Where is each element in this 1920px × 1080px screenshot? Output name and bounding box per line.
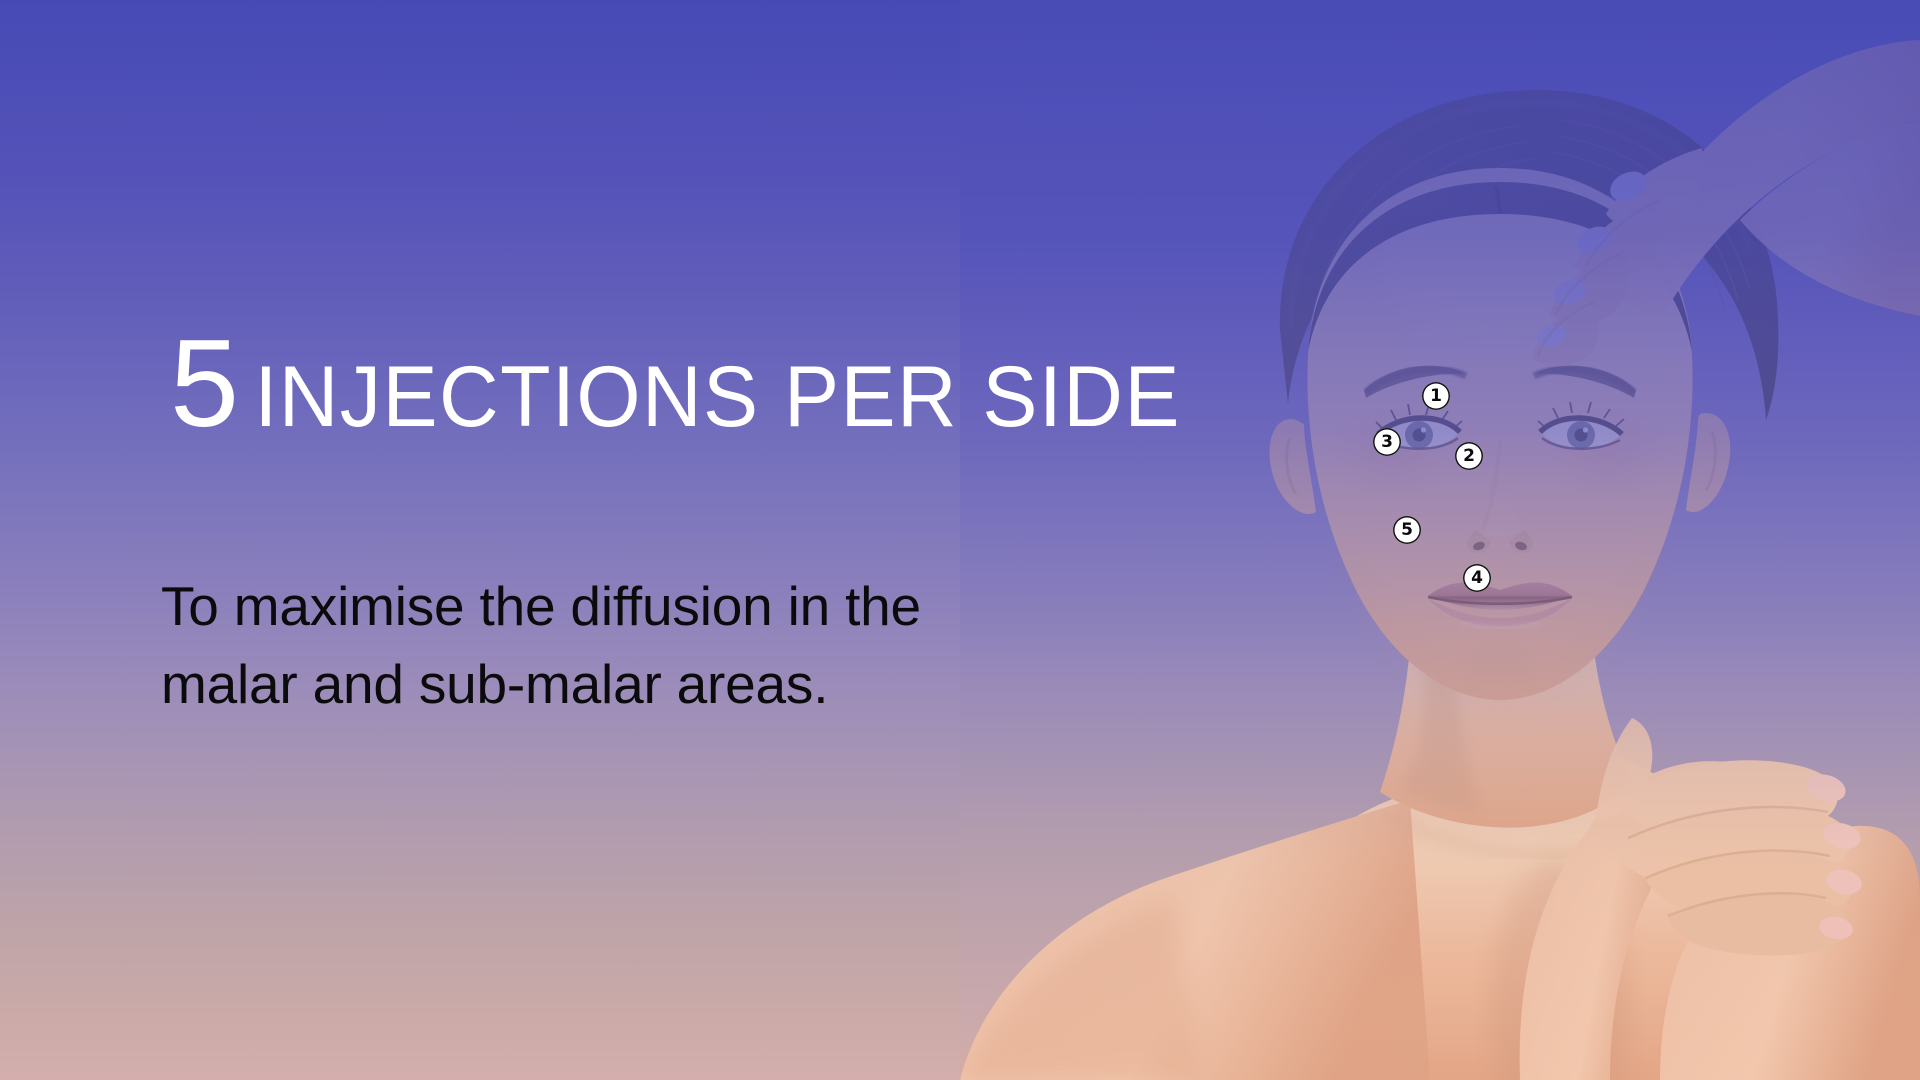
injection-marker-5[interactable]: 5 — [1393, 516, 1421, 544]
injection-marker-3[interactable]: 3 — [1373, 428, 1401, 456]
page-title: 5INJECTIONS PER SIDE — [170, 322, 1220, 446]
reference-photo — [960, 0, 1920, 1080]
body-copy: To maximise the diffusion in the malar a… — [161, 567, 1061, 723]
injection-marker-2[interactable]: 2 — [1455, 442, 1483, 470]
body-line-2: malar and sub-malar areas. — [161, 645, 1061, 723]
headline-number: 5 — [170, 315, 239, 453]
body-line-1: To maximise the diffusion in the — [161, 567, 1061, 645]
slide-canvas: 5INJECTIONS PER SIDE To maximise the dif… — [0, 0, 1920, 1080]
injection-marker-1[interactable]: 1 — [1422, 382, 1450, 410]
headline-text: INJECTIONS PER SIDE — [239, 354, 1181, 440]
injection-marker-4[interactable]: 4 — [1463, 564, 1491, 592]
